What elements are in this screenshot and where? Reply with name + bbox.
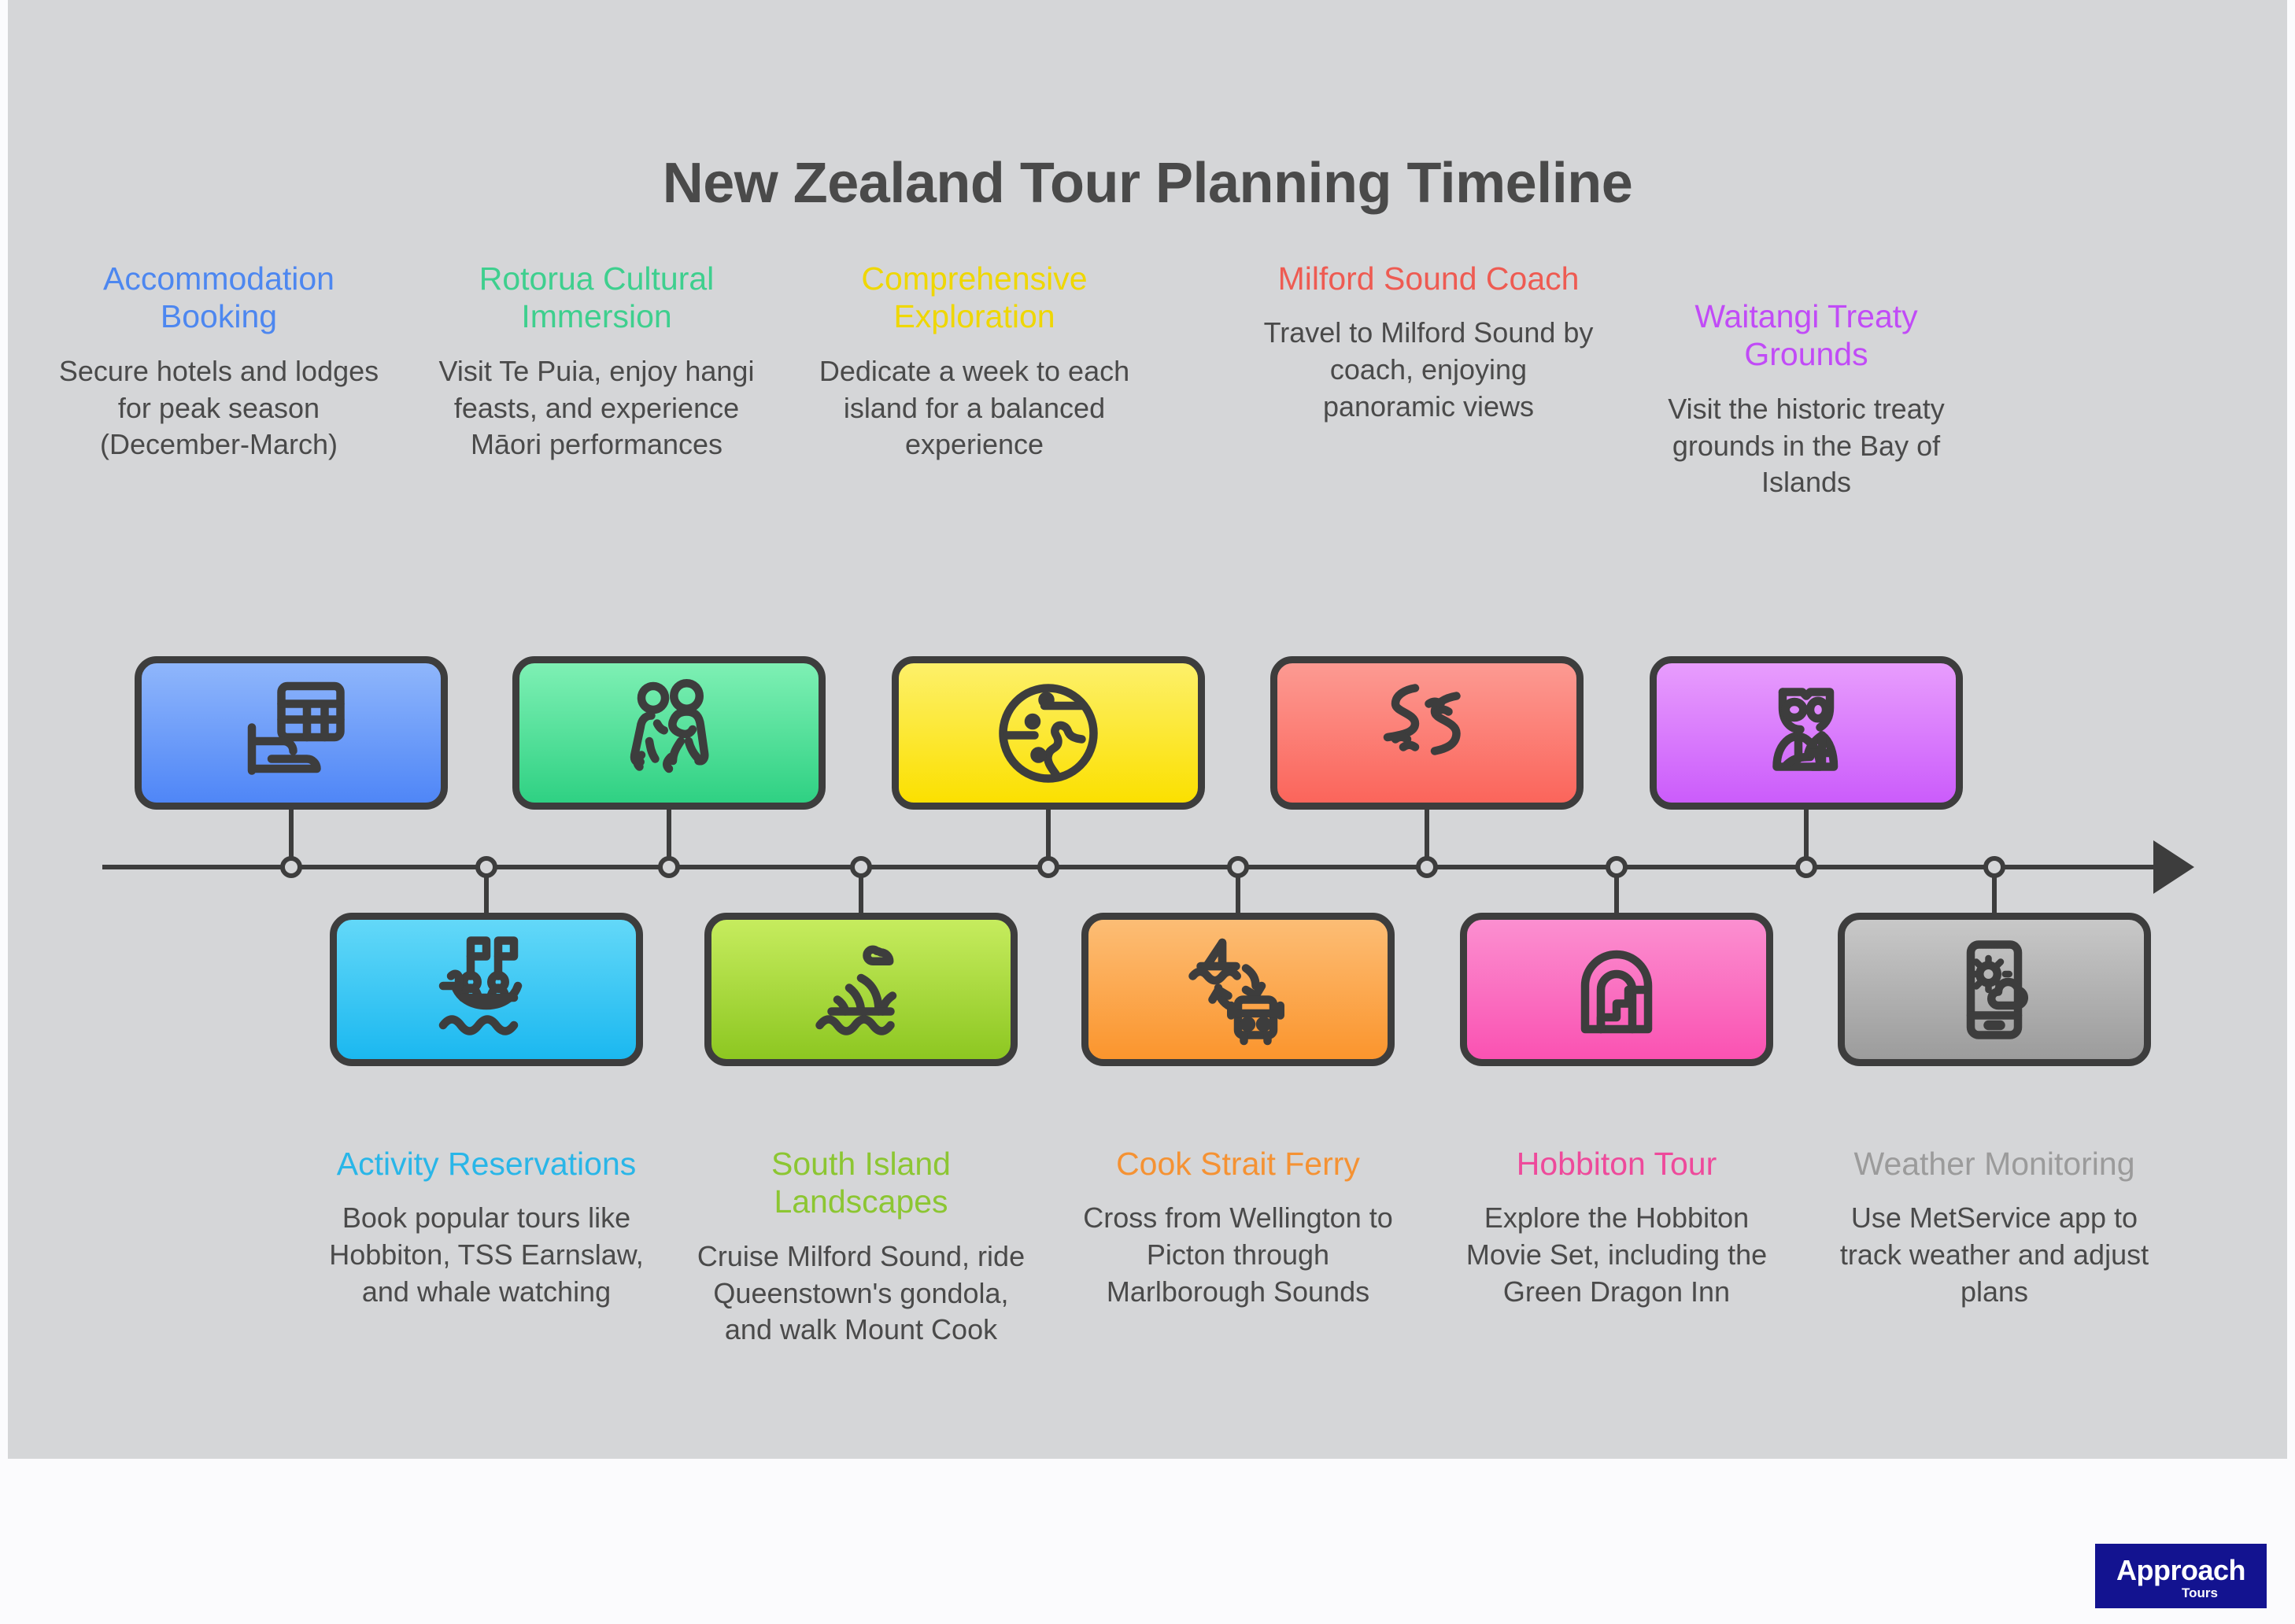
timeline-text-south-island-landscapes: South Island Landscapes Cruise Milford S…	[696, 1145, 1026, 1349]
approach-tours-logo: Approach Tours	[2095, 1544, 2267, 1608]
timeline-card-weather-monitoring[interactable]	[1838, 913, 2151, 1066]
timeline-text-hobbiton-tour: Hobbiton Tour Explore the Hobbiton Movie…	[1451, 1145, 1782, 1311]
node-description: Visit Te Puia, enjoy hangi feasts, and e…	[431, 353, 762, 463]
waka-boat-icon	[423, 927, 549, 1053]
timeline-text-weather-monitoring: Weather Monitoring Use MetService app to…	[1829, 1145, 2160, 1311]
timeline-card-cook-strait-ferry[interactable]	[1081, 913, 1395, 1066]
logo-brand-text: Approach	[2116, 1556, 2245, 1585]
timeline-text-milford-sound-coach: Milford Sound Coach Travel to Milford So…	[1263, 260, 1594, 426]
timeline-text-comprehensive-exploration: Comprehensive Exploration Dedicate a wee…	[809, 260, 1140, 463]
node-description: Explore the Hobbiton Movie Set, includin…	[1451, 1200, 1782, 1310]
timeline-text-rotorua-cultural-immersion: Rotorua Cultural Immersion Visit Te Puia…	[431, 260, 762, 463]
timeline-node-dot[interactable]	[1606, 856, 1628, 878]
node-heading: South Island Landscapes	[696, 1145, 1026, 1221]
timeline-text-accommodation-booking: Accommodation Booking Secure hotels and …	[54, 260, 384, 463]
timeline-node-dot[interactable]	[475, 856, 497, 878]
timeline-card-rotorua-cultural-immersion[interactable]	[512, 656, 826, 810]
node-description: Cruise Milford Sound, ride Queenstown's …	[696, 1238, 1026, 1349]
timeline-text-cook-strait-ferry: Cook Strait Ferry Cross from Wellington …	[1073, 1145, 1403, 1311]
timeline-arrow-icon	[2153, 840, 2194, 894]
timeline-node-dot[interactable]	[1037, 856, 1059, 878]
node-description: Visit the historic treaty grounds in the…	[1641, 391, 1972, 501]
node-heading: Waitangi Treaty Grounds	[1641, 297, 1972, 374]
globe-icon	[985, 670, 1111, 796]
node-description: Secure hotels and lodges for peak season…	[54, 353, 384, 463]
node-heading: Cook Strait Ferry	[1073, 1145, 1403, 1183]
node-description: Book popular tours like Hobbiton, TSS Ea…	[321, 1200, 652, 1310]
timeline-node-dot[interactable]	[280, 856, 302, 878]
node-description: Cross from Wellington to Picton through …	[1073, 1200, 1403, 1310]
infographic-canvas: New Zealand Tour Planning Timeline Accom…	[0, 0, 2295, 1624]
timeline-node-dot[interactable]	[1795, 856, 1817, 878]
timeline-node-dot[interactable]	[1983, 856, 2005, 878]
node-heading: Activity Reservations	[321, 1145, 652, 1183]
timeline-node-dot[interactable]	[1227, 856, 1249, 878]
timeline-node-dot[interactable]	[850, 856, 872, 878]
node-heading: Weather Monitoring	[1829, 1145, 2160, 1183]
timeline-card-south-island-landscapes[interactable]	[704, 913, 1018, 1066]
node-heading: Comprehensive Exploration	[809, 260, 1140, 336]
timeline-card-activity-reservations[interactable]	[330, 913, 643, 1066]
timeline-text-waitangi-treaty-grounds: Waitangi Treaty Grounds Visit the histor…	[1641, 297, 1972, 501]
page-title: New Zealand Tour Planning Timeline	[8, 151, 2287, 216]
timeline-card-comprehensive-exploration[interactable]	[892, 656, 1205, 810]
node-heading: Milford Sound Coach	[1263, 260, 1594, 297]
timeline-node-dot[interactable]	[658, 856, 680, 878]
landscape-peaks-icon	[798, 927, 924, 1053]
node-description: Dedicate a week to each island for a bal…	[809, 353, 1140, 463]
logo-sub-text: Tours	[2182, 1586, 2218, 1600]
hobbit-hole-icon	[1554, 927, 1680, 1053]
node-heading: Hobbiton Tour	[1451, 1145, 1782, 1183]
node-description: Use MetService app to track weather and …	[1829, 1200, 2160, 1310]
cultural-performers-icon	[606, 670, 732, 796]
winding-road-icon	[1364, 670, 1490, 796]
timeline-card-hobbiton-tour[interactable]	[1460, 913, 1773, 1066]
timeline-board: New Zealand Tour Planning Timeline Accom…	[8, 0, 2287, 1459]
ferry-bus-transfer-icon	[1175, 927, 1301, 1053]
node-heading: Accommodation Booking	[54, 260, 384, 336]
maori-mask-icon	[1743, 670, 1869, 796]
phone-weather-icon	[1931, 927, 2057, 1053]
timeline-card-accommodation-booking[interactable]	[135, 656, 448, 810]
node-heading: Rotorua Cultural Immersion	[431, 260, 762, 336]
node-description: Travel to Milford Sound by coach, enjoyi…	[1263, 315, 1594, 425]
timeline-axis	[102, 865, 2179, 869]
timeline-card-waitangi-treaty-grounds[interactable]	[1650, 656, 1963, 810]
timeline-text-activity-reservations: Activity Reservations Book popular tours…	[321, 1145, 652, 1311]
bed-calendar-icon	[228, 670, 354, 796]
timeline-node-dot[interactable]	[1416, 856, 1438, 878]
timeline-card-milford-sound-coach[interactable]	[1270, 656, 1584, 810]
